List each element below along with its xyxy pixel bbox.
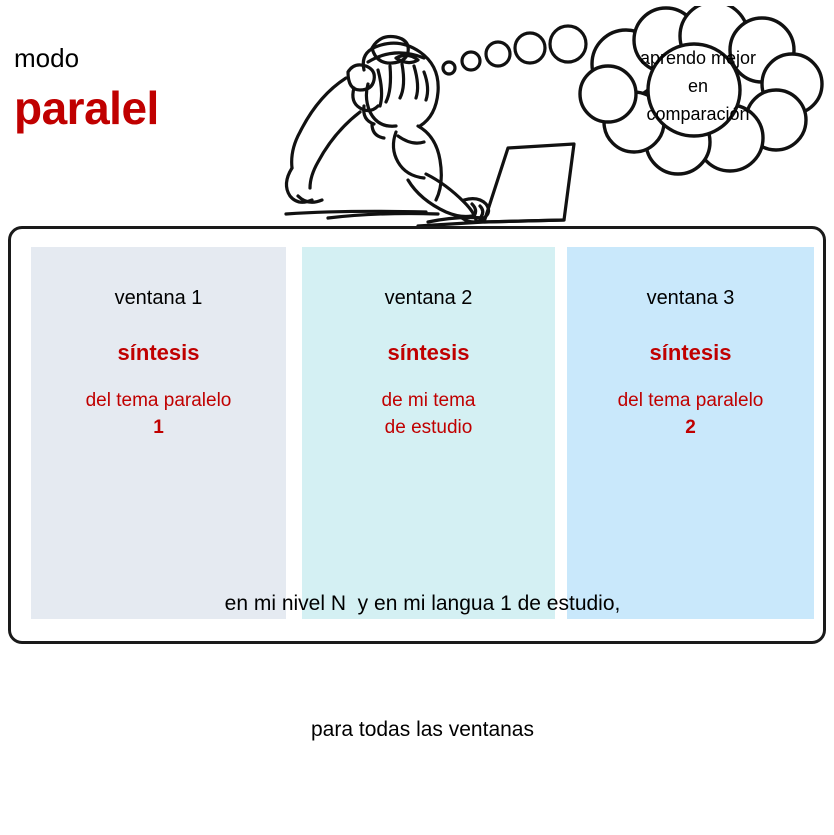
cloud-text-line-2: en	[600, 72, 796, 100]
title-modo: modo	[14, 42, 274, 74]
window-1-header: ventana 1	[31, 285, 286, 311]
window-2-subtitle-line-2: de estudio	[306, 414, 551, 441]
header-area: modo paralel	[0, 0, 834, 226]
window-3-subtitle: del tema paralelo 2	[567, 387, 814, 441]
window-1-subtitle: del tema paralelo 1	[31, 387, 286, 441]
window-3-subtitle-line-1: del tema paralelo	[571, 387, 810, 414]
window-2-header: ventana 2	[302, 285, 555, 311]
window-2-synthesis-label: síntesis	[302, 339, 555, 367]
window-1-synthesis-label: síntesis	[31, 339, 286, 367]
window-3-synthesis-label: síntesis	[567, 339, 814, 367]
windows-panel: ventana 1 síntesis del tema paralelo 1 v…	[8, 226, 826, 644]
panel-footer-note: en mi nivel N y en mi langua 1 de estudi…	[31, 499, 814, 835]
window-1-subtitle-line-2: 1	[35, 414, 282, 441]
title-paralel: paralel	[14, 80, 274, 136]
cloud-text-line-3: comparación	[600, 100, 796, 128]
footer-note-line-2: para todas las ventanas	[31, 709, 814, 751]
window-2-subtitle-line-1: de mi tema	[306, 387, 551, 414]
window-3-subtitle-line-2: 2	[571, 414, 810, 441]
window-3-header: ventana 3	[567, 285, 814, 311]
thought-cloud-text: aprendo mejor en comparación	[600, 44, 796, 128]
window-1-subtitle-line-1: del tema paralelo	[35, 387, 282, 414]
cloud-text-line-1: aprendo mejor	[600, 44, 796, 72]
page-title: modo paralel	[14, 42, 274, 136]
footer-note-line-1: en mi nivel N y en mi langua 1 de estudi…	[31, 583, 814, 625]
window-2-subtitle: de mi tema de estudio	[302, 387, 555, 441]
